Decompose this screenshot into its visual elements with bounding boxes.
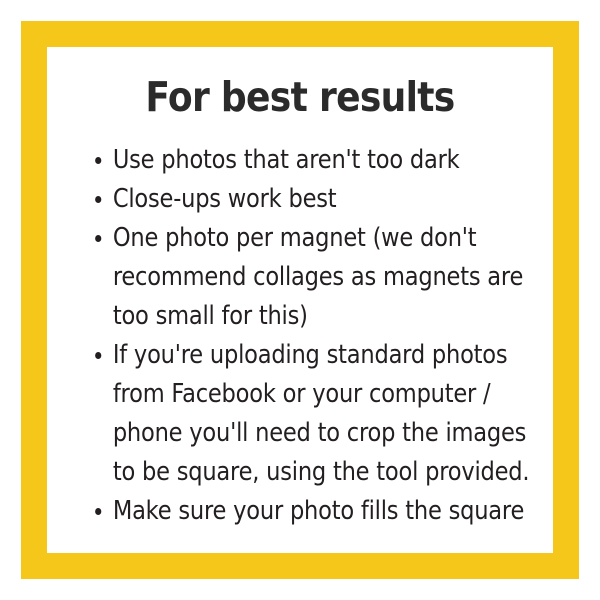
- list-item-label: Make sure your photo fills the square: [113, 492, 549, 531]
- list-item: Make sure your photo fills the square: [73, 492, 549, 531]
- yellow-frame-border: For best results Use photos that aren't …: [21, 21, 579, 579]
- list-item: If you're uploading standard photos from…: [73, 336, 549, 492]
- bullet-dot-icon: [95, 196, 101, 203]
- white-content-panel: For best results Use photos that aren't …: [47, 47, 553, 553]
- list-item-label: Close-ups work best: [113, 180, 549, 219]
- bullet-dot-icon: [95, 352, 101, 359]
- list-item: Use photos that aren't too dark: [73, 141, 549, 180]
- bullet-dot-icon: [95, 157, 101, 164]
- page-title: For best results: [77, 73, 522, 121]
- list-item-label: If you're uploading standard photos from…: [113, 336, 549, 492]
- list-item-label: Use photos that aren't too dark: [113, 141, 549, 180]
- poster-card: For best results Use photos that aren't …: [0, 0, 600, 600]
- tips-bullet-list: Use photos that aren't too dark Close-up…: [73, 141, 549, 531]
- list-item: Close-ups work best: [73, 180, 549, 219]
- list-item-label: One photo per magnet (we don't recommend…: [113, 219, 549, 336]
- bullet-dot-icon: [95, 235, 101, 242]
- bullet-dot-icon: [95, 508, 101, 515]
- list-item: One photo per magnet (we don't recommend…: [73, 219, 549, 336]
